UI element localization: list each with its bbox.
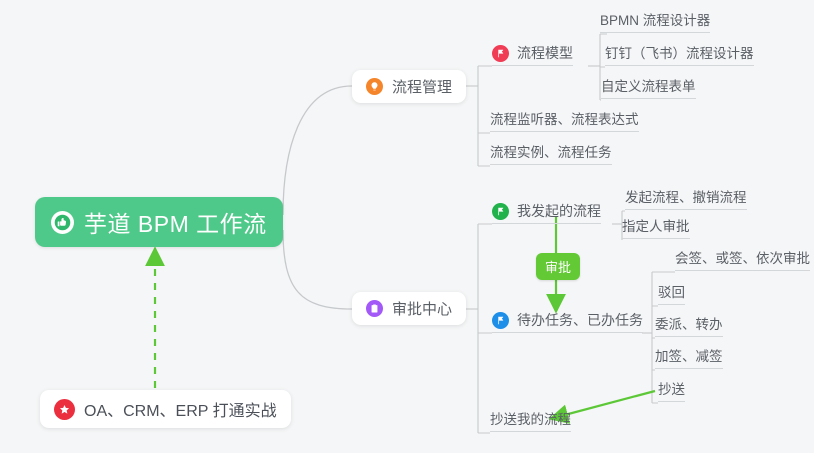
- node-flow-model[interactable]: 流程模型: [492, 44, 573, 66]
- leaf-reject[interactable]: 驳回: [658, 284, 685, 305]
- node-todo-done-label: 待办任务、已办任务: [517, 310, 643, 330]
- leaf-delegate-transfer[interactable]: 委派、转办: [655, 316, 723, 337]
- flag-icon: [492, 45, 509, 62]
- arrow-cc-to-cc-mine: [557, 391, 655, 417]
- star-icon: [54, 399, 75, 420]
- branch-approval-center[interactable]: 审批中心: [352, 292, 466, 325]
- link-root-to-flow-management: [283, 86, 352, 215]
- leaf-dingtalk-designer[interactable]: 钉钉（飞书）流程设计器: [605, 45, 754, 66]
- thumbs-up-icon: [51, 211, 74, 234]
- leaf-cc-to-me-processes[interactable]: 抄送我的流程: [490, 411, 571, 432]
- node-todo-done-tasks[interactable]: 待办任务、已办任务: [492, 311, 643, 333]
- node-flow-model-label: 流程模型: [517, 43, 573, 63]
- leaf-assignee-approval[interactable]: 指定人审批: [622, 218, 690, 239]
- link-root-to-approval-center: [283, 230, 352, 309]
- leaf-flow-instance[interactable]: 流程实例、流程任务: [490, 144, 612, 165]
- branch-approval-center-label: 审批中心: [392, 298, 452, 319]
- clipboard-icon: [366, 300, 383, 317]
- link-approval-center-children: [478, 224, 492, 433]
- root-label: 芋道 BPM 工作流: [84, 205, 267, 239]
- node-my-started-label: 我发起的流程: [517, 201, 601, 221]
- flag-icon: [492, 312, 509, 329]
- node-my-started-processes[interactable]: 我发起的流程: [492, 202, 601, 224]
- leaf-add-remove-sign[interactable]: 加签、减签: [655, 348, 723, 369]
- integration-node[interactable]: OA、CRM、ERP 打通实战: [40, 390, 291, 428]
- integration-label: OA、CRM、ERP 打通实战: [84, 397, 277, 421]
- mindmap-canvas: 芋道 BPM 工作流 OA、CRM、ERP 打通实战 流程管理 流程模型 BPM…: [0, 0, 814, 453]
- lightbulb-icon: [366, 78, 383, 95]
- leaf-custom-form[interactable]: 自定义流程表单: [601, 78, 696, 99]
- root-node[interactable]: 芋道 BPM 工作流: [35, 197, 283, 247]
- approval-badge: 审批: [536, 253, 580, 280]
- leaf-start-cancel-process[interactable]: 发起流程、撤销流程: [625, 189, 747, 210]
- leaf-countersign[interactable]: 会签、或签、依次审批: [675, 250, 810, 271]
- branch-flow-management[interactable]: 流程管理: [352, 70, 466, 103]
- leaf-carbon-copy[interactable]: 抄送: [658, 381, 685, 402]
- branch-flow-management-label: 流程管理: [392, 76, 452, 97]
- leaf-bpmn-designer[interactable]: BPMN 流程设计器: [600, 12, 710, 33]
- flag-icon: [492, 203, 509, 220]
- leaf-flow-listener[interactable]: 流程监听器、流程表达式: [490, 111, 639, 132]
